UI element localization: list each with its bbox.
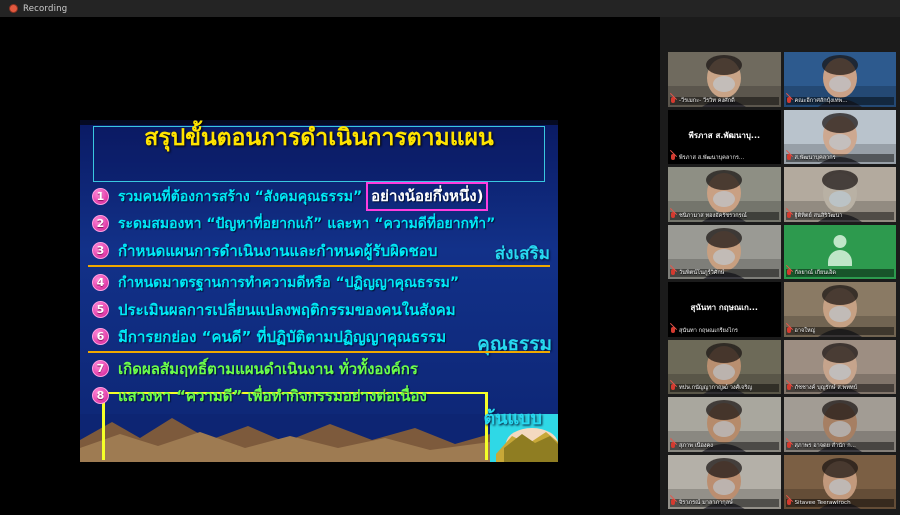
participant-name: ฐิติทิตย์ สนสิริวัฒนา — [795, 212, 843, 220]
participant-nametag: ชนิภามาส ทองอัครัชรวกรณ์ — [670, 212, 779, 220]
participant-nametag: คณะอีกาศสักบุ้งเทพ... — [786, 97, 895, 105]
participant-nametag: ฐิติทิตย์ สนสิริวัฒนา — [786, 212, 895, 220]
participant-tile[interactable]: กัลยาณ์ เกียนเอ็ด — [784, 225, 897, 280]
participant-tile[interactable]: Sitavee Teerawiroch — [784, 455, 897, 510]
step-text: กำหนดมาตรฐานการทำความดีหรือ “ปฏิญญาคุณธร… — [118, 272, 459, 294]
participant-tile[interactable]: คณะอีกาศสักบุ้งเทพ... — [784, 52, 897, 107]
participant-tile[interactable]: ส.พัฒนาบุคลากร — [784, 110, 897, 165]
participant-name: ชนิภามาส ทองอัครัชรวกรณ์ — [679, 212, 747, 220]
participant-nametag: -วีรเมกะ- วีรวิท คงศักดิ์ — [670, 97, 779, 105]
participant-nametag: ทปษ.กนัญญากาญฒ์ วงศ์เจริญ — [670, 384, 779, 392]
muted-microphone-icon — [786, 154, 793, 162]
step-text: กำหนดแผนการดำเนินงานและกำหนดผู้รับผิดชอบ — [118, 239, 437, 263]
participant-name: อาจใหญ่ — [795, 327, 816, 335]
slide-step-row: 4กำหนดมาตรฐานการทำความดีหรือ “ปฏิญญาคุณธ… — [88, 269, 550, 296]
muted-microphone-icon — [670, 327, 677, 335]
slide-step-row: 5ประเมินผลการเปลี่ยนแปลงพฤติกรรมของคนในส… — [88, 296, 550, 323]
participant-nametag: พีรภาส ส.พัฒนาบุคลากร... — [670, 154, 779, 162]
muted-microphone-icon — [670, 499, 677, 507]
slide-step-row: 7เกิดผลสัมฤทธิ์ตามแผนดำเนินงาน ทั่วทั้งอ… — [88, 355, 550, 382]
step-number-badge: 1 — [92, 188, 109, 205]
participant-name: -วีรเมกะ- วีรวิท คงศักดิ์ — [679, 97, 735, 105]
participant-grid[interactable]: -วีรเมกะ- วีรวิท คงศักดิ์คณะอีกาศสักบุ้ง… — [668, 52, 896, 509]
step-highlight-box: อย่างน้อยกึ่งหนึ่ง) — [366, 182, 488, 211]
participant-tile[interactable]: สุนันทา กฤษณเก...สุนันทา กฤษณเกรียงไกร — [668, 282, 781, 337]
presentation-slide: สรุปขั้นตอนการดำเนินการตามแผน พลอากาศเอก… — [80, 120, 558, 462]
participant-nametag: กัลยาณ์ เกียนเอ็ด — [786, 269, 895, 277]
participant-name: ทปษ.กนัญญากาญฒ์ วงศ์เจริญ — [679, 384, 752, 392]
participant-name: สุภาพร อาจดย สำนัก ก... — [795, 442, 856, 450]
step-number-badge: 8 — [92, 387, 109, 404]
muted-microphone-icon — [670, 384, 677, 392]
muted-microphone-icon — [786, 97, 793, 105]
meeting-window: Recording สรุปขั้นตอนการดำเนินการตามแผน … — [0, 0, 900, 515]
recording-bar: Recording — [0, 0, 900, 17]
muted-microphone-icon — [786, 499, 793, 507]
participant-tile[interactable]: ชนิภามาส ทองอัครัชรวกรณ์ — [668, 167, 781, 222]
muted-microphone-icon — [786, 269, 793, 277]
slide-step-row: 3กำหนดแผนการดำเนินงานและกำหนดผู้รับผิดชอ… — [88, 237, 550, 264]
step-text: ระดมสมองหา “ปัญหาที่อยากแก้” และหา “ความ… — [118, 213, 495, 235]
slide-step-list: 1รวมคนที่ต้องการสร้าง “สังคมคุณธรรม”อย่า… — [88, 183, 550, 409]
participant-name: คณะอีกาศสักบุ้งเทพ... — [795, 97, 848, 105]
step-text: ประเมินผลการเปลี่ยนแปลงพฤติกรรมของคนในสั… — [118, 298, 456, 322]
participant-nametag: ส.พัฒนาบุคลากร — [786, 154, 895, 162]
muted-microphone-icon — [670, 212, 677, 220]
recording-label: Recording — [23, 4, 67, 14]
participant-tile[interactable]: -วีรเมกะ- วีรวิท คงศักดิ์ — [668, 52, 781, 107]
slide-step-row: 8แสวงหา “ความดี” เพื่อทำกิจกรรมอย่างต่อเ… — [88, 382, 550, 409]
participant-nametag: วันพิตน์โนภูร์วิศักษ์ — [670, 269, 779, 277]
participant-nametag: จิราภรณ์ มาลาภากุลษ์ — [670, 499, 779, 507]
participant-tile[interactable]: จิราภรณ์ มาลาภากุลษ์ — [668, 455, 781, 510]
participant-name: วันพิตน์โนภูร์วิศักษ์ — [679, 269, 724, 277]
muted-microphone-icon — [670, 97, 677, 105]
muted-microphone-icon — [786, 327, 793, 335]
shared-screen-stage[interactable]: สรุปขั้นตอนการดำเนินการตามแผน พลอากาศเอก… — [0, 17, 660, 515]
step-number-badge: 4 — [92, 274, 109, 291]
step-number-badge: 3 — [92, 242, 109, 259]
muted-microphone-icon — [670, 154, 677, 162]
step-number-badge: 7 — [92, 360, 109, 377]
participant-display-name: สุนันทา กฤษณเก... — [668, 301, 781, 314]
participant-tile[interactable]: สุภาพร อาจดย สำนัก ก... — [784, 397, 897, 452]
participant-name: พีรภาส ส.พัฒนาบุคลากร... — [679, 154, 744, 162]
step-number-badge: 6 — [92, 328, 109, 345]
participant-nametag: สุนันทา กฤษณเกรียงไกร — [670, 327, 779, 335]
muted-microphone-icon — [786, 212, 793, 220]
section-divider — [88, 351, 550, 353]
participant-tile[interactable]: อาจใหญ่ — [784, 282, 897, 337]
participant-tile[interactable]: วันพิตน์โนภูร์วิศักษ์ — [668, 225, 781, 280]
participant-nametag: อาจใหญ่ — [786, 327, 895, 335]
participant-tile[interactable]: ฐิติทิตย์ สนสิริวัฒนา — [784, 167, 897, 222]
participant-tile[interactable]: ทปษ.กนัญญากาญฒ์ วงศ์เจริญ — [668, 340, 781, 395]
muted-microphone-icon — [670, 269, 677, 277]
muted-microphone-icon — [786, 384, 793, 392]
participant-tile[interactable]: สุภาพ เนื่องคง — [668, 397, 781, 452]
participant-nametag: สุภาพร อาจดย สำนัก ก... — [786, 442, 895, 450]
participant-name: Sitavee Teerawiroch — [795, 500, 851, 506]
slide-title: สรุปขั้นตอนการดำเนินการตามแผน — [80, 126, 558, 150]
participant-name: ภัชชางค์ บุญรักษ์ ส.พททบ์ — [795, 384, 858, 392]
slide-step-row: 2ระดมสมองหา “ปัญหาที่อยากแก้” และหา “ควา… — [88, 210, 550, 237]
recording-dot-icon — [9, 4, 18, 13]
step-text: รวมคนที่ต้องการสร้าง “สังคมคุณธรรม” — [118, 186, 362, 208]
participant-name: สุนันทา กฤษณเกรียงไกร — [679, 327, 738, 335]
step-number-badge: 2 — [92, 215, 109, 232]
slide-step-row: 6มีการยกย่อง “คนดี” ที่ปฏิบัติตามปฏิญญาค… — [88, 323, 550, 350]
slide-step-row: 1รวมคนที่ต้องการสร้าง “สังคมคุณธรรม”อย่า… — [88, 183, 550, 210]
participant-tile[interactable]: ภัชชางค์ บุญรักษ์ ส.พททบ์ — [784, 340, 897, 395]
participant-nametag: Sitavee Teerawiroch — [786, 499, 895, 507]
participant-display-name: พีรภาส ส.พัฒนาบุ... — [668, 129, 781, 142]
step-text: มีการยกย่อง “คนดี” ที่ปฏิบัติตามปฏิญญาคุ… — [118, 325, 446, 349]
participant-nametag: ภัชชางค์ บุญรักษ์ ส.พททบ์ — [786, 384, 895, 392]
participant-name: จิราภรณ์ มาลาภากุลษ์ — [679, 499, 733, 507]
section-divider — [88, 265, 550, 267]
participant-name: ส.พัฒนาบุคลากร — [795, 154, 836, 162]
participant-name: กัลยาณ์ เกียนเอ็ด — [795, 269, 837, 277]
participant-tile[interactable]: พีรภาส ส.พัฒนาบุ...พีรภาส ส.พัฒนาบุคลากร… — [668, 110, 781, 165]
participant-nametag: สุภาพ เนื่องคง — [670, 442, 779, 450]
muted-microphone-icon — [786, 442, 793, 450]
step-number-badge: 5 — [92, 301, 109, 318]
participant-name: สุภาพ เนื่องคง — [679, 442, 713, 450]
default-avatar-icon — [825, 235, 855, 265]
muted-microphone-icon — [670, 442, 677, 450]
step-text: เกิดผลสัมฤทธิ์ตามแผนดำเนินงาน ทั่วทั้งอง… — [118, 357, 418, 381]
step-text: แสวงหา “ความดี” เพื่อทำกิจกรรมอย่างต่อเน… — [118, 384, 427, 408]
